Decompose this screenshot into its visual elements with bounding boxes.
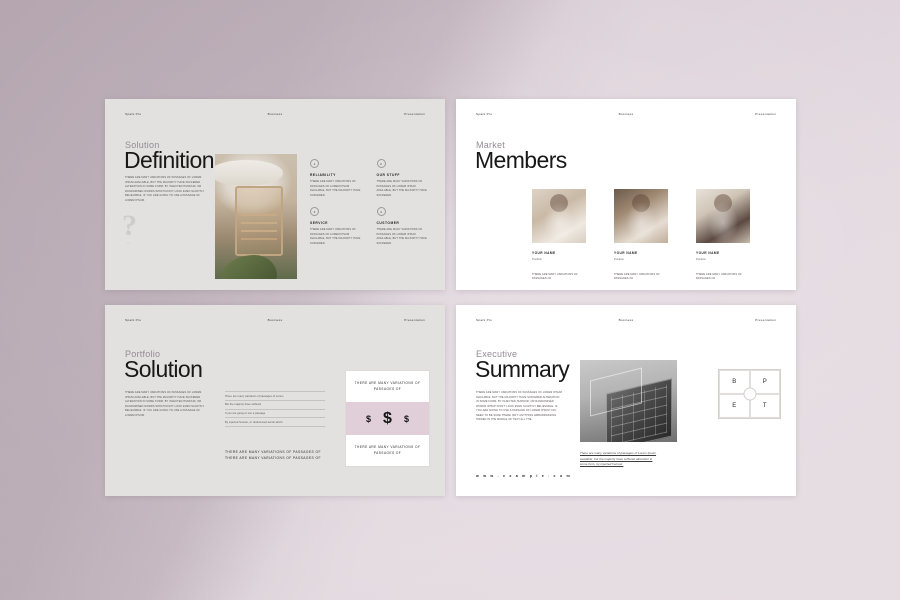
header-kind: Presentation — [404, 318, 425, 322]
summary-quote: There are many variations of passages of… — [580, 451, 660, 468]
feature-title: RELIABILITY — [310, 173, 364, 177]
slide-title: Summary — [475, 358, 569, 381]
price-card[interactable]: THERE ARE MANY VARIATIONS OF PASSAGES OF… — [345, 370, 430, 467]
feature-text: THERE ARE MANY VARIATIONS OF PASSAGES OF… — [310, 228, 364, 246]
feature-text: THERE ARE MANY VARIATIONS OF PASSAGES OF… — [310, 180, 364, 198]
price-card-top-text: THERE ARE MANY VARIATIONS OF PASSAGES OF — [346, 371, 429, 402]
slide-title: Solution — [124, 358, 202, 381]
price-card-bottom-text: THERE ARE MANY VARIATIONS OF PASSAGES OF — [346, 435, 429, 466]
header-category: Business — [268, 112, 283, 116]
architecture-photo — [580, 360, 677, 442]
photo-chair-shape — [235, 186, 283, 256]
member-name: YOUR NAME — [614, 251, 668, 255]
feature-title: OUR STUFF — [377, 173, 431, 177]
slide-header: Spark Pro Business Presentation — [476, 112, 776, 116]
slide-members[interactable]: Spark Pro Business Presentation Market M… — [456, 99, 796, 290]
footer-line: THERE ARE MANY VARIATIONS OF PASSAGES OF — [225, 450, 335, 456]
feature-number-badge: 1 — [310, 159, 319, 168]
feature-title: CUSTOMER — [377, 221, 431, 225]
footer-line: THERE ARE MANY VARIATIONS OF PASSAGES OF — [225, 456, 335, 462]
member-position: Position — [532, 257, 586, 261]
feature-item[interactable]: 3 SERVICE THERE ARE MANY VARIATIONS OF P… — [310, 207, 364, 246]
header-category: Business — [268, 318, 283, 322]
feature-text: THERE ARE MANY VARIATIONS OF PASSAGES OF… — [377, 228, 431, 246]
feature-text: THERE ARE MANY VARIATIONS OF PASSAGES OF… — [377, 180, 431, 198]
member-card[interactable]: YOUR NAME Position THERE ARE MANY VARIAT… — [696, 189, 750, 282]
slide-header: Spark Pro Business Presentation — [125, 318, 425, 322]
header-brand: Spark Pro — [476, 112, 492, 116]
solution-footer-lines: THERE ARE MANY VARIATIONS OF PASSAGES OF… — [225, 450, 335, 461]
slide-header: Spark Pro Business Presentation — [476, 318, 776, 322]
slide-definition[interactable]: Spark Pro Business Presentation Solution… — [105, 99, 445, 290]
slide-deck: Spark Pro Business Presentation Solution… — [105, 99, 796, 496]
list-item[interactable]: If you are going to use a passage — [225, 409, 325, 418]
member-name: YOUR NAME — [696, 251, 750, 255]
feature-title: SERVICE — [310, 221, 364, 225]
member-card[interactable]: YOUR NAME Position THERE ARE MANY VARIAT… — [614, 189, 668, 282]
feature-number-badge: 3 — [310, 207, 319, 216]
members-row: YOUR NAME Position THERE ARE MANY VARIAT… — [532, 189, 750, 282]
header-kind: Presentation — [755, 318, 776, 322]
slide-summary[interactable]: Spark Pro Business Presentation Executiv… — [456, 305, 796, 496]
dollar-icon-large: $ — [383, 410, 392, 428]
member-photo — [696, 189, 750, 243]
slide-title: Definition — [124, 149, 214, 172]
dollar-icon-small-left: $ — [366, 414, 371, 424]
member-description: THERE ARE MANY VARIATIONS OF PASSAGES OF — [696, 273, 750, 282]
price-card-band: $ $ $ — [346, 402, 429, 435]
photo-plant-leaf-shape — [221, 255, 277, 279]
slide-lead-paragraph: THERE ARE MANY VARIATIONS OF PASSAGES OF… — [476, 391, 562, 423]
member-position: Position — [614, 257, 668, 261]
feature-item[interactable]: 4 CUSTOMER THERE ARE MANY VARIATIONS OF … — [377, 207, 431, 246]
feature-item[interactable]: 2 OUR STUFF THERE ARE MANY VARIATIONS OF… — [377, 159, 431, 198]
header-brand: Spark Pro — [125, 112, 141, 116]
dollar-icon-small-right: $ — [404, 414, 409, 424]
header-category: Business — [619, 112, 634, 116]
interior-chair-photo — [215, 154, 297, 279]
slide-title: Members — [475, 149, 567, 172]
bpet-matrix[interactable]: B P E T — [718, 369, 781, 419]
member-position: Position — [696, 257, 750, 261]
solution-line-list: There are many variations of passages of… — [225, 391, 325, 427]
photo-tabletop-shape — [215, 160, 283, 186]
header-kind: Presentation — [755, 112, 776, 116]
header-category: Business — [619, 318, 634, 322]
member-card[interactable]: YOUR NAME Position THERE ARE MANY VARIAT… — [532, 189, 586, 282]
slide-lead-paragraph: THERE ARE MANY VARIATIONS OF PASSAGES OF… — [125, 176, 207, 203]
feature-item[interactable]: 1 RELIABILITY THERE ARE MANY VARIATIONS … — [310, 159, 364, 198]
watermark-number: 01 — [127, 242, 130, 245]
member-photo — [614, 189, 668, 243]
slide-lead-paragraph: THERE ARE MANY VARIATIONS OF PASSAGES OF… — [125, 391, 205, 418]
member-description: THERE ARE MANY VARIATIONS OF PASSAGES OF — [614, 273, 668, 282]
member-name: YOUR NAME — [532, 251, 586, 255]
list-item[interactable]: By injected humour, or randomised words … — [225, 417, 325, 427]
question-mark-watermark: ? — [122, 211, 137, 241]
header-kind: Presentation — [404, 112, 425, 116]
website-url[interactable]: w w w . e x a m p l e . c o m — [476, 474, 571, 478]
feature-number-badge: 2 — [377, 159, 386, 168]
list-item[interactable]: But the majority have suffered — [225, 400, 325, 409]
feature-number-badge: 4 — [377, 207, 386, 216]
feature-grid: 1 RELIABILITY THERE ARE MANY VARIATIONS … — [310, 159, 430, 255]
slide-header: Spark Pro Business Presentation — [125, 112, 425, 116]
member-photo — [532, 189, 586, 243]
slide-solution[interactable]: Spark Pro Business Presentation Portfoli… — [105, 305, 445, 496]
header-brand: Spark Pro — [476, 318, 492, 322]
header-brand: Spark Pro — [125, 318, 141, 322]
member-description: THERE ARE MANY VARIATIONS OF PASSAGES OF — [532, 273, 586, 282]
list-item[interactable]: There are many variations of passages of… — [225, 391, 325, 400]
matrix-center-hub — [743, 388, 756, 401]
